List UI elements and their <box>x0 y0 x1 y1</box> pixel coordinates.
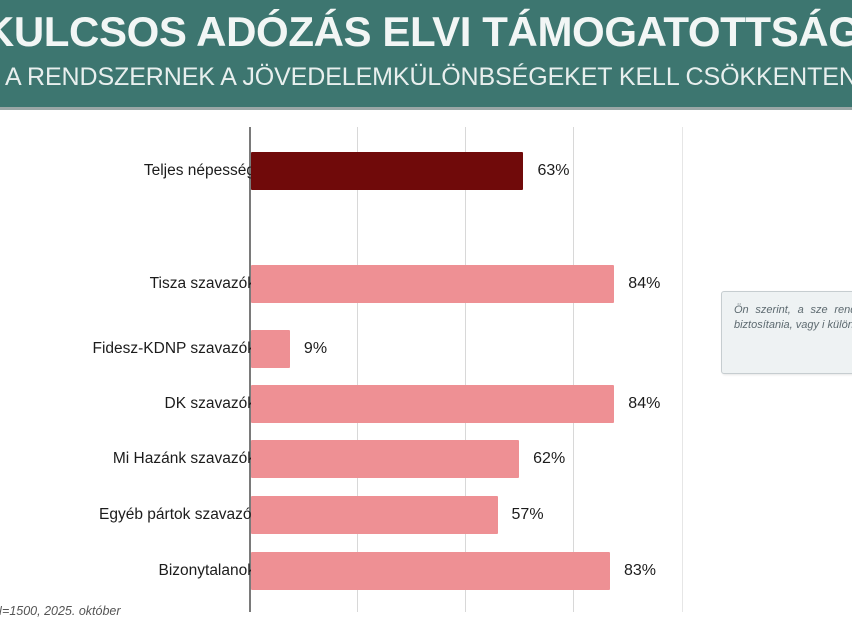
bar-1 <box>251 152 523 190</box>
bar-category-label: Egyéb pártok szavazói <box>99 507 255 523</box>
gridline-75 <box>573 127 574 612</box>
bar-5 <box>251 440 519 478</box>
bar-value-label: 84% <box>628 276 660 292</box>
bar-row: Teljes népesség63% <box>0 152 852 190</box>
bar-category-label: Teljes népesség <box>144 163 255 179</box>
bar-row: Mi Hazánk szavazók62% <box>0 440 852 478</box>
bar-category-label: DK szavazók <box>165 396 255 412</box>
bar-row: Egyéb pártok szavazói57% <box>0 496 852 534</box>
bar-category-label: Bizonytalanok <box>158 563 255 579</box>
bar-6 <box>251 496 498 534</box>
page-subtitle: INT A RENDSZERNEK A JÖVEDELEMKÜLÖNBSÉGEK… <box>0 61 852 93</box>
chart-plot-area: Teljes népesség63%Tisza szavazók84%Fides… <box>0 113 852 639</box>
bar-category-label: Tisza szavazók <box>150 276 255 292</box>
bar-value-label: 63% <box>537 163 569 179</box>
chart-footnote: N=1500, 2025. október <box>0 604 121 618</box>
page-title: BKULCSOS ADÓZÁS ELVI TÁMOGATOTTSÁG <box>0 6 852 58</box>
chart-value-axis <box>249 127 251 612</box>
bar-7 <box>251 552 610 590</box>
bar-row: Bizonytalanok83% <box>0 552 852 590</box>
bar-value-label: 84% <box>628 396 660 412</box>
gridline-25 <box>357 127 358 612</box>
bar-3 <box>251 330 290 368</box>
bar-4 <box>251 385 614 423</box>
bar-value-label: 83% <box>624 563 656 579</box>
gridline-100 <box>682 127 683 612</box>
bar-value-label: 57% <box>512 507 544 523</box>
annotation-text: Ön szerint, a sze rendszernek inkább biz… <box>734 303 852 332</box>
bar-value-label: 9% <box>304 341 327 357</box>
bar-row: DK szavazók84% <box>0 385 852 423</box>
annotation-callout: Ön szerint, a sze rendszernek inkább biz… <box>721 291 852 374</box>
gridline-50 <box>465 127 466 612</box>
header-band: BKULCSOS ADÓZÁS ELVI TÁMOGATOTTSÁG INT A… <box>0 0 852 110</box>
bar-value-label: 62% <box>533 451 565 467</box>
bar-category-label: Fidesz-KDNP szavazók <box>92 341 255 357</box>
bar-2 <box>251 265 614 303</box>
bar-category-label: Mi Hazánk szavazók <box>113 451 255 467</box>
